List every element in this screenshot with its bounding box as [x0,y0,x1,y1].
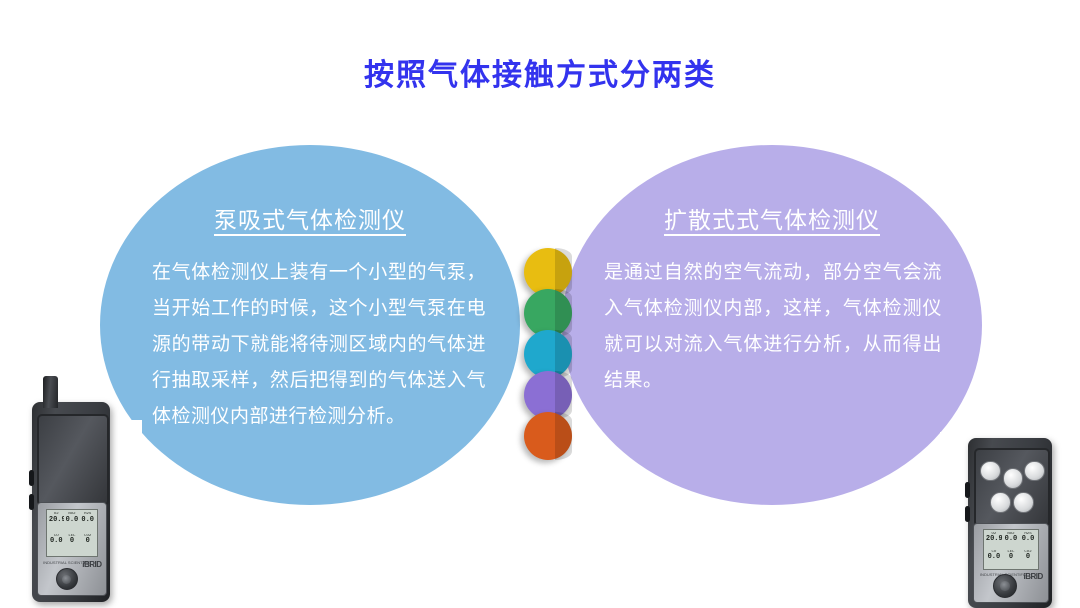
device-side-button [29,494,34,510]
diffusion-sensor-cap-icon [1024,461,1045,482]
device-front-panel: O220.9 NO20.0 H2S0.0 CO0.0 LEL0 CO20 IND… [973,523,1049,603]
device-body: O220.9 NO20.0 H2S0.0 CO0.0 LEL0 CO20 IND… [968,438,1052,608]
device-side-button [965,482,970,498]
bubble-diffusion[interactable]: 扩散式式气体检测仪 是通过自然的空气流动，部分空气会流入气体检测仪内部，这样，气… [562,145,982,505]
bubble-pump-suction[interactable]: 泵吸式气体检测仪 在气体检测仪上装有一个小型的气泵，当开始工作的时候，这个小型气… [100,145,520,505]
pump-inlet-nozzle-icon [43,376,58,408]
diffusion-sensor-cap-icon [980,461,1001,482]
device-lcd-display: O220.9 NO20.0 H2S0.0 CO0.0 LEL0 CO20 [46,509,98,557]
bubble-diffusion-body: 是通过自然的空气流动，部分空气会流入气体检测仪内部，这样，气体检测仪就可以对流入… [604,255,942,399]
deco-circle-orange [524,412,572,460]
device-side-button [29,470,34,486]
diffusion-sensor-cap-icon [990,492,1011,513]
lcd-reading: CO0.0 [49,534,64,554]
device-navigation-knob [56,568,79,591]
device-sensor-window [974,448,1050,527]
lcd-reading: NO20.0 [1003,532,1019,549]
device-sensor-window [37,414,108,506]
device-brand-logo: iBRID [1023,572,1042,581]
lcd-reading: CO0.0 [986,550,1002,567]
slide-canvas: 按照气体接触方式分两类 泵吸式气体检测仪 在气体检测仪上装有一个小型的气泵，当开… [0,0,1080,608]
page-title: 按照气体接触方式分两类 [0,50,1080,94]
center-circle-stack [524,248,576,460]
device-front-panel: O220.9 NO20.0 H2S0.0 CO0.0 LEL0 CO20 IND… [37,502,108,596]
lcd-reading: CO20 [80,534,95,554]
device-brand-logo: iBRID [82,560,101,569]
lcd-reading: CO20 [1020,550,1036,567]
device-navigation-knob [993,574,1017,598]
diffusion-sensor-cap-icon [1003,468,1024,489]
lcd-reading: O220.9 [49,512,64,532]
device-side-button [965,506,970,522]
lcd-reading: O220.9 [986,532,1002,549]
lcd-reading: NO20.0 [65,512,80,532]
pump-suction-gas-detector-image: O220.9 NO20.0 H2S0.0 CO0.0 LEL0 CO20 IND… [32,402,110,602]
lcd-reading: H2S0.0 [1020,532,1036,549]
device-lcd-display: O220.9 NO20.0 H2S0.0 CO0.0 LEL0 CO20 [983,529,1039,570]
diffusion-sensor-cap-icon [1013,492,1034,513]
bubble-pump-suction-heading: 泵吸式气体检测仪 [100,201,520,235]
lcd-reading: LEL0 [65,534,80,554]
device-body: O220.9 NO20.0 H2S0.0 CO0.0 LEL0 CO20 IND… [32,402,110,602]
lcd-reading: H2S0.0 [80,512,95,532]
bubble-diffusion-heading: 扩散式式气体检测仪 [562,201,982,235]
bubble-pump-suction-body: 在气体检测仪上装有一个小型的气泵，当开始工作的时候，这个小型气泵在电源的带动下就… [152,255,486,435]
lcd-reading: LEL0 [1003,550,1019,567]
diffusion-gas-detector-image: O220.9 NO20.0 H2S0.0 CO0.0 LEL0 CO20 IND… [968,438,1052,608]
